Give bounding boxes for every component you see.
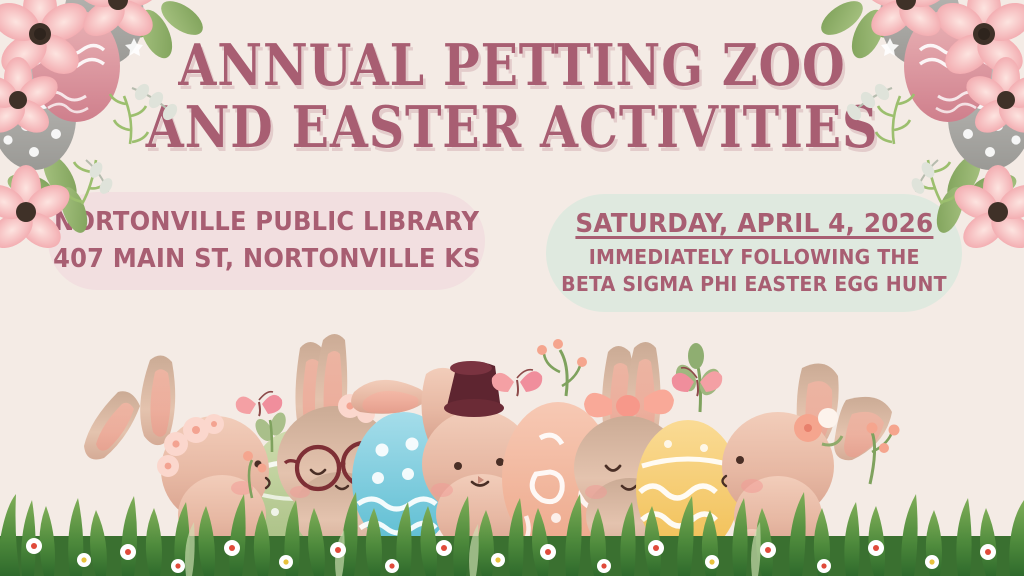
floral-corner-top-left xyxy=(0,0,230,250)
easter-event-poster: ANNUAL PETTING ZOO AND EASTER ACTIVITIES… xyxy=(0,0,1024,576)
top-hat xyxy=(444,361,504,417)
schedule-line-2: BETA SIGMA PHI EASTER EGG HUNT xyxy=(561,271,947,298)
butterfly-center xyxy=(492,370,542,396)
floral-corner-top-right xyxy=(794,0,1024,250)
butterfly-left xyxy=(236,392,282,416)
bunny-side-flower xyxy=(722,364,892,557)
